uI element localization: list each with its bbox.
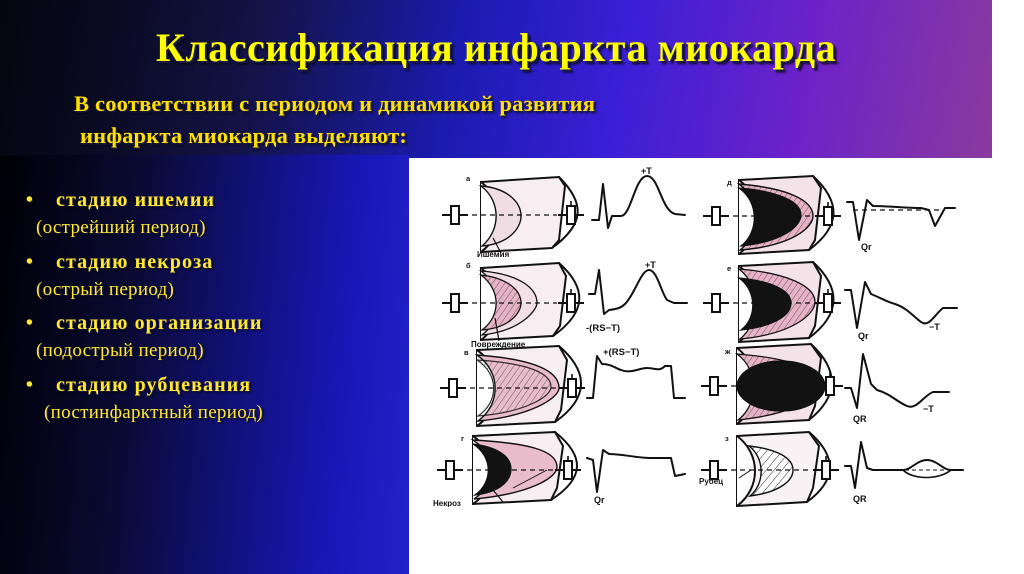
list-item: • стадию рубцевания (постинфарктный пери… (0, 373, 409, 426)
panel-z-ecg-label: QR (853, 494, 867, 504)
bullet-dot-icon: • (0, 375, 56, 395)
bullet-sub-text: (острейший период) (0, 216, 409, 241)
bullet-sub-text: (острый период) (0, 278, 409, 303)
panel-g-tissue-label: Некроз (433, 499, 461, 507)
panel-zh-ecg-label-qr: QR (853, 414, 867, 424)
panel-e-ecg-label-q: Qr (858, 331, 869, 341)
bullet-main-row: • стадию рубцевания (0, 373, 409, 398)
panel-zh-letter: ж (724, 347, 731, 356)
panel-d-ecg-label: Qr (861, 242, 872, 252)
panel-d-letter: д (727, 178, 732, 187)
bullet-main-row: • стадию организации (0, 311, 409, 336)
subtitle-line-2: инфаркта миокарда выделяют: (74, 120, 694, 152)
list-item: • стадию ишемии (острейший период) (0, 188, 409, 241)
bullet-main-text: стадию некроза (56, 250, 213, 275)
panel-g-letter: г (461, 434, 464, 443)
panel-g-ecg-label: Qr (594, 495, 605, 505)
panel-e-letter: е (727, 264, 731, 273)
panel-v-letter: в (464, 348, 469, 357)
bullet-dot-icon: • (0, 252, 56, 272)
bullet-main-text: стадию рубцевания (56, 373, 251, 398)
bullet-main-row: • стадию ишемии (0, 188, 409, 213)
bullet-sub-text: (подострый период) (0, 339, 409, 364)
panel-b-ecg-label-t: +T (645, 260, 656, 270)
ecg-stages-figure: Ишемия а +T Повреждение б (409, 158, 995, 507)
slide-root: Классификация инфаркта миокарда В соотве… (0, 0, 1024, 574)
bullet-dot-icon: • (0, 190, 56, 210)
subtitle-line-1: В соответствии с периодом и динамикой ра… (74, 91, 595, 116)
ecg-stages-svg: Ишемия а +T Повреждение б (409, 158, 995, 507)
panel-v-ecg-label: +(RS−T) (603, 347, 639, 358)
subtitle: В соответствии с периодом и динамикой ра… (74, 88, 694, 152)
panel-zh-ecg-label-t: −T (923, 404, 934, 414)
bullet-list: • стадию ишемии (острейший период) • ста… (0, 188, 409, 435)
panel-a-tissue-label: Ишемия (477, 250, 510, 259)
panel-b-letter: б (466, 261, 471, 270)
panel-z-letter: з (725, 434, 729, 443)
page-title: Классификация инфаркта миокарда (0, 27, 992, 69)
list-item: • стадию организации (подострый период) (0, 311, 409, 364)
panel-b-ecg-label-st: -(RS−T) (586, 323, 620, 334)
bullet-main-text: стадию организации (56, 311, 263, 336)
panel-a-ecg-label: +T (641, 166, 652, 176)
bullet-main-row: • стадию некроза (0, 250, 409, 275)
bullet-main-text: стадию ишемии (56, 188, 215, 213)
list-item: • стадию некроза (острый период) (0, 250, 409, 303)
panel-e-ecg-label-t: −T (929, 322, 940, 332)
bullet-dot-icon: • (0, 313, 56, 333)
bullet-sub-text: (постинфарктный период) (0, 401, 409, 426)
